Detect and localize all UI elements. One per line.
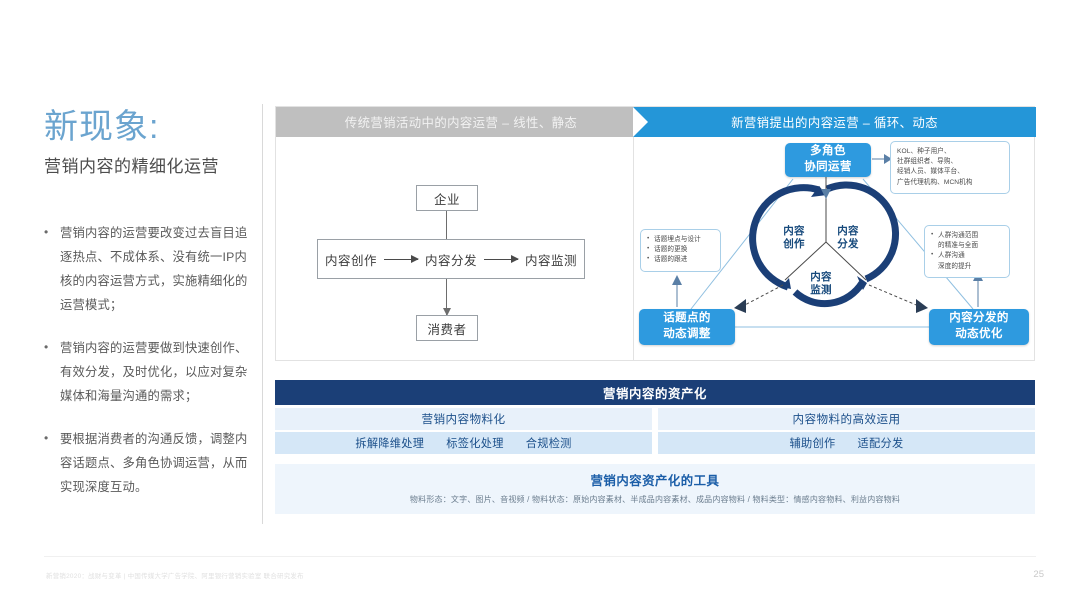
callout-topics: 话题埋点与设计 话题的更换 话题的跟进 [640, 229, 721, 272]
ring-label-creation-line1: 内容 [771, 225, 817, 238]
asset-item: 辅助创作 [790, 435, 836, 451]
asset-tools-description: 物料形态：文字、图片、音视频 / 物料状态：原始内容素材、半成品内容素材、成品内… [275, 494, 1035, 505]
ring-label-distribution-line1: 内容 [825, 225, 871, 238]
asset-item: 拆解降维处理 [355, 435, 424, 451]
callout-roles-line: 经销人员、媒体平台、 [897, 167, 1003, 177]
asset-tools-title: 营销内容资产化的工具 [275, 471, 1035, 489]
banner-row: 传统营销活动中的内容运营 – 线性、静态 新营销提出的内容运营 – 循环、动态 [276, 107, 1034, 137]
page-title: 新现象: [44, 108, 256, 147]
footer-divider [44, 556, 1036, 557]
callout-topics-line: 话题埋点与设计 [647, 235, 714, 245]
node-distribution-optimize-line1: 内容分发的 [949, 311, 1009, 327]
node-topic-adjust-line1: 话题点的 [663, 311, 711, 327]
asset-item: 标签化处理 [446, 435, 503, 451]
callout-roles-line: 广告代理机构、MCN机构 [897, 178, 1003, 188]
page-subtitle: 营销内容的精细化运营 [44, 156, 256, 178]
node-content-creation: 内容创作 [325, 250, 377, 269]
left-text-panel: 新现象: 营销内容的精细化运营 营销内容的运营要改变过去盲目追逐热点、不成体系、… [44, 108, 256, 519]
asset-section-header: 营销内容的资产化 [275, 380, 1035, 405]
node-multirole-line1: 多角色 [810, 144, 846, 160]
arrow-right-icon [484, 259, 518, 260]
diagram-panel: 传统营销活动中的内容运营 – 线性、静态 新营销提出的内容运营 – 循环、动态 … [275, 106, 1035, 361]
node-distribution-optimize-line2: 动态优化 [955, 327, 1003, 343]
banner-traditional: 传统营销活动中的内容运营 – 线性、静态 [276, 107, 646, 137]
ring-label-creation: 内容 创作 [771, 225, 817, 251]
node-enterprise: 企业 [416, 185, 478, 211]
ring-label-distribution-line2: 分发 [825, 238, 871, 251]
node-topic-adjust-line2: 动态调整 [663, 327, 711, 343]
footer-note: 新营销2020：战财与变革 | 中国传媒大学广告学院、阿里银行营销实验室 联合研… [46, 571, 304, 580]
callout-topics-line: 话题的更换 [647, 245, 714, 255]
callout-audience-line: 深度的提升 [931, 262, 1003, 272]
asset-column-items: 辅助创作 适配分发 [658, 432, 1035, 454]
asset-column-items: 拆解降维处理 标签化处理 合规检测 [275, 432, 652, 454]
node-topic-adjust: 话题点的 动态调整 [639, 309, 735, 345]
asset-tools-block: 营销内容资产化的工具 物料形态：文字、图片、音视频 / 物料状态：原始内容素材、… [275, 464, 1035, 514]
callout-topics-line: 话题的跟进 [647, 255, 714, 265]
callout-roles: KOL、种子用户、 社群组织者、导购、 经销人员、媒体平台、 广告代理机构、MC… [890, 141, 1010, 194]
asset-columns: 营销内容物料化 拆解降维处理 标签化处理 合规检测 内容物料的高效运用 辅助创作… [275, 408, 1035, 454]
ring-label-monitoring: 内容 监测 [798, 271, 844, 297]
asset-column-title: 内容物料的高效运用 [658, 408, 1035, 430]
dynamic-model-diagram: 多角色 协同运营 话题点的 动态调整 内容分发的 动态优化 内容 创作 内容 分… [633, 137, 1036, 361]
banner-new: 新营销提出的内容运营 – 循环、动态 [633, 107, 1036, 137]
asset-column-utilization: 内容物料的高效运用 辅助创作 适配分发 [658, 408, 1035, 454]
bullet-item: 营销内容的运营要改变过去盲目追逐热点、不成体系、没有统一IP内核的内容运营方式，… [44, 222, 256, 318]
bullet-item: 营销内容的运营要做到快速创作、有效分发，及时优化，以应对复杂媒体和海量沟通的需求… [44, 337, 256, 409]
node-distribution-optimize: 内容分发的 动态优化 [929, 309, 1029, 345]
node-multirole-line2: 协同运营 [804, 160, 852, 176]
node-content-distribution: 内容分发 [425, 250, 477, 269]
ring-label-monitoring-line1: 内容 [798, 271, 844, 284]
node-multirole-collab: 多角色 协同运营 [785, 143, 871, 177]
ring-label-monitoring-line2: 监测 [798, 284, 844, 297]
slide-canvas: 新现象: 营销内容的精细化运营 营销内容的运营要改变过去盲目追逐热点、不成体系、… [0, 0, 1080, 608]
callout-roles-line: KOL、种子用户、 [897, 147, 1003, 157]
node-consumer: 消费者 [416, 315, 478, 341]
callout-audience-line: 人群沟通范围 [931, 231, 1003, 241]
node-content-monitoring: 内容监测 [525, 250, 577, 269]
node-step-group: 内容创作 内容分发 内容监测 [317, 239, 585, 279]
vertical-divider [262, 104, 263, 524]
ring-label-distribution: 内容 分发 [825, 225, 871, 251]
asset-item: 适配分发 [858, 435, 904, 451]
asset-column-materialization: 营销内容物料化 拆解降维处理 标签化处理 合规检测 [275, 408, 652, 454]
page-number: 25 [1033, 569, 1044, 580]
asset-column-title: 营销内容物料化 [275, 408, 652, 430]
callout-roles-line: 社群组织者、导购、 [897, 157, 1003, 167]
connector-enterprise-to-steps [446, 211, 447, 239]
bullet-list: 营销内容的运营要改变过去盲目追逐热点、不成体系、没有统一IP内核的内容运营方式，… [44, 222, 256, 500]
connector-steps-to-consumer [446, 279, 447, 315]
asset-section: 营销内容的资产化 营销内容物料化 拆解降维处理 标签化处理 合规检测 内容物料的… [275, 380, 1035, 514]
callout-audience-line: 的精准与全面 [931, 241, 1003, 251]
arrow-right-icon [384, 259, 418, 260]
callout-audience-line: 人群沟通 [931, 251, 1003, 261]
ring-label-creation-line2: 创作 [771, 238, 817, 251]
bullet-item: 要根据消费者的沟通反馈，调整内容话题点、多角色协调运营，从而实现深度互动。 [44, 428, 256, 500]
traditional-flow-diagram: 企业 内容创作 内容分发 内容监测 消费者 [276, 137, 633, 361]
asset-item: 合规检测 [526, 435, 572, 451]
callout-audience: 人群沟通范围 的精准与全面 人群沟通 深度的提升 [924, 225, 1010, 278]
